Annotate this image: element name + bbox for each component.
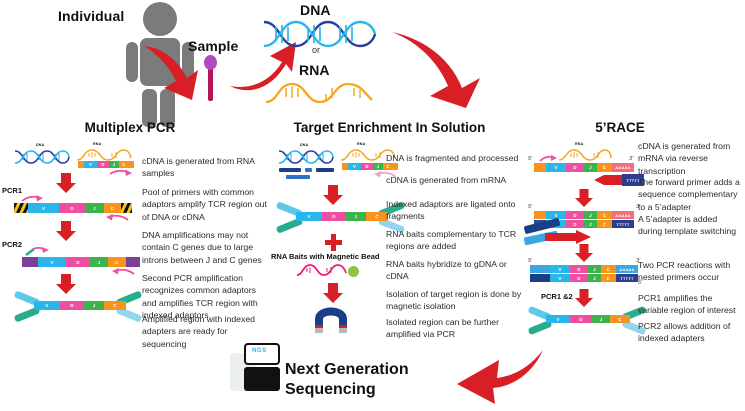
primer-icon-col1-cdna (108, 168, 134, 177)
bait-caption-col2: RNA Baits with Magnetic Bead (271, 252, 380, 261)
ngs-title: Next Generation Sequencing (285, 360, 465, 399)
rna-strand-icon (264, 80, 376, 106)
arrow-to-ngs-icon (455, 348, 545, 406)
or-label: or (312, 45, 320, 55)
column-title-target-enrichment: Target Enrichment In Solution (272, 120, 507, 135)
cdna-construct-col1: V D J C (78, 161, 134, 168)
swab-icon (203, 55, 223, 105)
step-label-pcr1: PCR1 (2, 186, 22, 195)
text-col1-0: cDNA is generated from RNA samples (142, 155, 270, 180)
micro-label-rna-col3: RNA (575, 142, 583, 146)
text-col3-1: The forward primer adds a sequence compl… (638, 176, 742, 213)
dna-fragment-1 (279, 168, 301, 172)
prime-3-col3-step1: 3’ (629, 156, 633, 162)
arrow-down-col3-step3-icon (574, 288, 594, 308)
ngs-badge: NGS (252, 348, 267, 354)
prime-5-col3-step3: 5’ (528, 258, 532, 264)
dna-helix-icon-col2 (278, 149, 334, 165)
ngs-machine-icon: NGS (230, 343, 290, 395)
rna-strand-icon-col1 (76, 148, 132, 162)
final-duplex-top-col3: V D J C AAAAA (530, 265, 638, 273)
primer-icon-pcr2-forward (24, 246, 50, 257)
ngs-title-line2: Sequencing (285, 380, 465, 400)
dna-helix-icon-col1 (14, 149, 70, 165)
prime-5-col3-step2: 5’ (528, 204, 532, 210)
text-col3-5: PCR2 allows addition of indexed adapters (638, 320, 742, 345)
primer-icon-pcr2-reverse (110, 267, 136, 276)
final-construct-col1: V D J C (14, 293, 144, 321)
text-col2-0: DNA is fragmented and processed (386, 152, 531, 164)
arrow-down-col2-step2-icon (322, 282, 344, 304)
micro-label-dna-col2: DNA (300, 143, 308, 147)
text-col3-2: A 5’adapter is added during template swi… (638, 213, 742, 238)
rna-bait-icon (296, 262, 348, 278)
text-col3-3: Two PCR reactions with nested primers oc… (638, 259, 742, 284)
text-col3-4: PCR1 amplifies the variable region of in… (638, 292, 742, 317)
text-col2-5: Isolation of target region is done by ma… (386, 288, 531, 313)
arrow-down-col1-step3-icon (55, 273, 77, 295)
individual-label: Individual (58, 8, 124, 24)
arrow-down-col1-step2-icon (55, 220, 77, 242)
magnetic-bead-icon (348, 266, 359, 277)
rna-label: RNA (299, 62, 330, 78)
dna-fragment-2 (305, 168, 312, 172)
column-title-five-prime-race: 5’RACE (530, 120, 710, 135)
dna-label: DNA (300, 2, 331, 18)
micro-label-rna-col1: RNA (93, 142, 101, 146)
final-duplex-bottom-col3: V D J C TTTTT (530, 274, 638, 282)
arrow-down-col3-step2-icon (574, 243, 594, 263)
reverse-transcription-arrow: TTTTT (594, 174, 642, 186)
dna-fragment-3 (316, 168, 334, 172)
text-col2-1: cDNA is generated from mRNA (386, 174, 531, 186)
plus-icon-col2 (325, 234, 342, 251)
arrow-down-col1-step1-icon (55, 172, 77, 194)
arrow-down-col2-step1-icon (322, 184, 344, 206)
arrow-down-col3-step1-icon (574, 188, 594, 208)
pcr1-construct: V D J C (14, 203, 132, 213)
text-col1-2: DNA amplifications may not contain C gen… (142, 229, 270, 266)
column-title-multiplex-pcr: Multiplex PCR (20, 120, 240, 135)
primer-icon-pcr1-forward (20, 194, 44, 203)
dna-fragment-4 (286, 175, 310, 179)
text-col1-1: Pool of primers with common adaptors amp… (142, 186, 270, 223)
step-label-pcr2: PCR2 (2, 240, 22, 249)
step-label-pcr1-2: PCR1 &2 (541, 292, 573, 301)
duplex-top-strand-col3: V D J C AAAAA (534, 211, 634, 219)
text-col2-6: Isolated region can be further amplified… (386, 316, 531, 341)
ngs-title-line1: Next Generation (285, 360, 465, 380)
prime-5-col3-step1: 5’ (528, 156, 532, 162)
magnet-icon (313, 303, 351, 333)
primer-icon-pcr1-reverse (104, 213, 130, 222)
micro-label-rna-col2: RNA (357, 142, 365, 146)
mrna-construct-col3: V D J C AAAAA (534, 163, 634, 172)
arrow-to-methods-icon (390, 28, 492, 110)
text-col2-3: RNA baits complementary to TCR regions a… (386, 228, 531, 253)
final-construct-col3: V D J C (528, 308, 648, 334)
rna-strand-icon-col3 (558, 148, 612, 162)
diagram-canvas: Individual Sample DNA or RNA (0, 0, 745, 411)
micro-label-dna-col1: DNA (36, 143, 44, 147)
primer-icon-col3-rt (538, 154, 558, 163)
pcr2-construct: V D J C (22, 257, 140, 267)
text-col2-4: RNA baits hybridize to gDNA or cDNA (386, 258, 531, 283)
text-col3-0: cDNA is generated from mRNA via reverse … (638, 140, 742, 177)
text-col2-2: Indexed adaptors are ligated onto fragme… (386, 198, 531, 223)
